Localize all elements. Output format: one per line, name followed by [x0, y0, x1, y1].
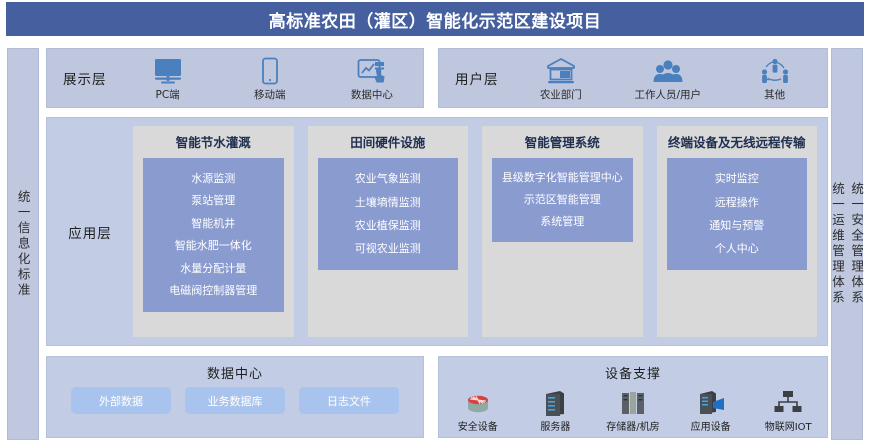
app-card-item[interactable]: 土壤墒情监测	[353, 195, 423, 210]
right-rail-label-operations: 统一运维管理体系	[831, 182, 844, 306]
app-card-item[interactable]: 水量分配计量	[178, 261, 248, 276]
app-card-item[interactable]: 可视农业监测	[353, 241, 423, 256]
app-card-smart-irrigation: 智能节水灌溉 水源监测 泵站管理 智能机井 智能水肥一体化 水量分配计量 电磁阀…	[133, 126, 294, 337]
dashboard-touch-icon	[357, 55, 387, 85]
presentation-and-user-row: 展示层 PC端	[46, 48, 828, 110]
server-icon	[542, 387, 568, 417]
app-card-heading: 智能节水灌溉	[176, 135, 251, 151]
user-item-agriculture-dept[interactable]: 农业部门	[530, 55, 592, 102]
application-layer-cards: 智能节水灌溉 水源监测 泵站管理 智能机井 智能水肥一体化 水量分配计量 电磁阀…	[133, 118, 827, 345]
app-card-item[interactable]: 个人中心	[713, 241, 761, 256]
app-card-item[interactable]: 水源监测	[189, 171, 237, 186]
device-support-items: 安全设备 服务器	[439, 387, 827, 433]
government-building-icon	[546, 55, 576, 85]
app-card-heading: 田间硬件设施	[350, 135, 425, 151]
firewall-icon	[463, 387, 493, 417]
left-rail-label: 统一信息化标准	[16, 190, 29, 299]
left-rail-unified-standard: 统一信息化标准	[7, 48, 39, 440]
mobile-phone-icon	[261, 55, 279, 85]
application-layer-panel: 应用层 智能节水灌溉 水源监测 泵站管理 智能机井 智能水肥一体化 水量分配计量…	[46, 117, 828, 346]
app-card-item[interactable]: 农业植保监测	[353, 218, 423, 233]
app-card-heading: 智能管理系统	[525, 135, 600, 151]
device-item-storage[interactable]: 存储器/机房	[604, 387, 662, 433]
data-center-items: 外部数据 业务数据库 日志文件	[47, 387, 423, 414]
monitor-icon	[153, 55, 183, 85]
app-card-item[interactable]: 远程操作	[713, 195, 761, 210]
display-layer-title: 展示层	[47, 68, 117, 88]
device-item-label: 物联网IOT	[765, 418, 812, 433]
user-layer-panel: 用户层 农业部门	[438, 48, 828, 108]
app-card-terminal-transmission: 终端设备及无线远程传输 实时监控 远程操作 通知与预警 个人中心	[657, 126, 818, 337]
device-item-server[interactable]: 服务器	[526, 387, 584, 433]
user-item-label: 其他	[764, 87, 785, 102]
device-item-label: 应用设备	[691, 418, 731, 433]
display-item-data-center[interactable]: 数据中心	[341, 55, 403, 102]
user-item-other[interactable]: 其他	[744, 55, 806, 102]
data-center-title: 数据中心	[207, 363, 263, 382]
data-center-item[interactable]: 日志文件	[299, 387, 399, 414]
right-rail-label-security: 统一安全管理体系	[850, 182, 863, 306]
user-item-label: 工作人员/用户	[634, 87, 701, 102]
app-card-item[interactable]: 泵站管理	[189, 193, 237, 208]
display-item-label: 移动端	[254, 87, 286, 102]
page-title: 高标准农田（灌区）智能化示范区建设项目	[269, 7, 602, 32]
data-center-panel: 数据中心 外部数据 业务数据库 日志文件	[46, 356, 424, 438]
app-card-item[interactable]: 智能机井	[189, 216, 237, 231]
device-item-label: 安全设备	[458, 418, 498, 433]
app-card-item[interactable]: 农业气象监测	[353, 171, 423, 186]
data-center-item[interactable]: 外部数据	[71, 387, 171, 414]
app-card-management-system: 智能管理系统 县级数字化智能管理中心 示范区智能管理 系统管理	[482, 126, 643, 337]
display-item-label: PC端	[155, 87, 179, 102]
device-item-label: 存储器/机房	[606, 418, 659, 433]
app-card-items: 农业气象监测 土壤墒情监测 农业植保监测 可视农业监测	[318, 158, 459, 270]
right-rail-unified-management: 统一安全管理体系 统一运维管理体系	[831, 48, 863, 440]
app-card-item[interactable]: 智能水肥一体化	[173, 238, 254, 253]
display-item-pc[interactable]: PC端	[137, 55, 199, 102]
iot-network-icon	[773, 387, 803, 417]
device-support-title: 设备支撑	[605, 363, 661, 382]
display-layer-panel: 展示层 PC端	[46, 48, 424, 108]
page-title-bar: 高标准农田（灌区）智能化示范区建设项目	[6, 2, 864, 36]
device-item-label: 服务器	[540, 418, 570, 433]
app-card-item[interactable]: 实时监控	[713, 171, 761, 186]
user-layer-items: 农业部门 工作人员/用户	[509, 49, 828, 107]
app-card-field-hardware: 田间硬件设施 农业气象监测 土壤墒情监测 农业植保监测 可视农业监测	[308, 126, 469, 337]
display-layer-items: PC端 移动端	[117, 49, 424, 107]
user-group-icon	[652, 55, 684, 85]
app-card-item[interactable]: 县级数字化智能管理中心	[500, 170, 625, 185]
user-layer-title: 用户层	[439, 68, 509, 88]
application-server-icon	[696, 387, 726, 417]
app-card-items: 实时监控 远程操作 通知与预警 个人中心	[667, 158, 808, 270]
data-center-item[interactable]: 业务数据库	[185, 387, 285, 414]
app-card-items: 县级数字化智能管理中心 示范区智能管理 系统管理	[492, 158, 633, 242]
right-rail-stack: 统一安全管理体系 统一运维管理体系	[831, 182, 863, 306]
device-item-application[interactable]: 应用设备	[682, 387, 740, 433]
app-card-item[interactable]: 示范区智能管理	[522, 192, 603, 207]
user-item-label: 农业部门	[540, 87, 582, 102]
app-card-item[interactable]: 系统管理	[538, 214, 586, 229]
architecture-diagram: 高标准农田（灌区）智能化示范区建设项目 统一信息化标准 统一安全管理体系 统一运…	[0, 0, 870, 445]
device-support-panel: 设备支撑 安全设备	[438, 356, 828, 438]
device-item-security[interactable]: 安全设备	[449, 387, 507, 433]
app-card-item[interactable]: 通知与预警	[707, 218, 766, 233]
storage-rack-icon	[618, 387, 648, 417]
people-cycle-icon	[759, 55, 791, 85]
app-card-item[interactable]: 电磁阀控制器管理	[167, 283, 259, 298]
display-item-mobile[interactable]: 移动端	[239, 55, 301, 102]
app-card-items: 水源监测 泵站管理 智能机井 智能水肥一体化 水量分配计量 电磁阀控制器管理	[143, 158, 284, 312]
user-item-staff[interactable]: 工作人员/用户	[634, 55, 701, 102]
data-and-device-row: 数据中心 外部数据 业务数据库 日志文件 设备支撑	[46, 356, 828, 440]
application-layer-title: 应用层	[47, 222, 133, 242]
app-card-heading: 终端设备及无线远程传输	[668, 135, 806, 151]
display-item-label: 数据中心	[351, 87, 393, 102]
device-item-iot[interactable]: 物联网IOT	[759, 387, 817, 433]
